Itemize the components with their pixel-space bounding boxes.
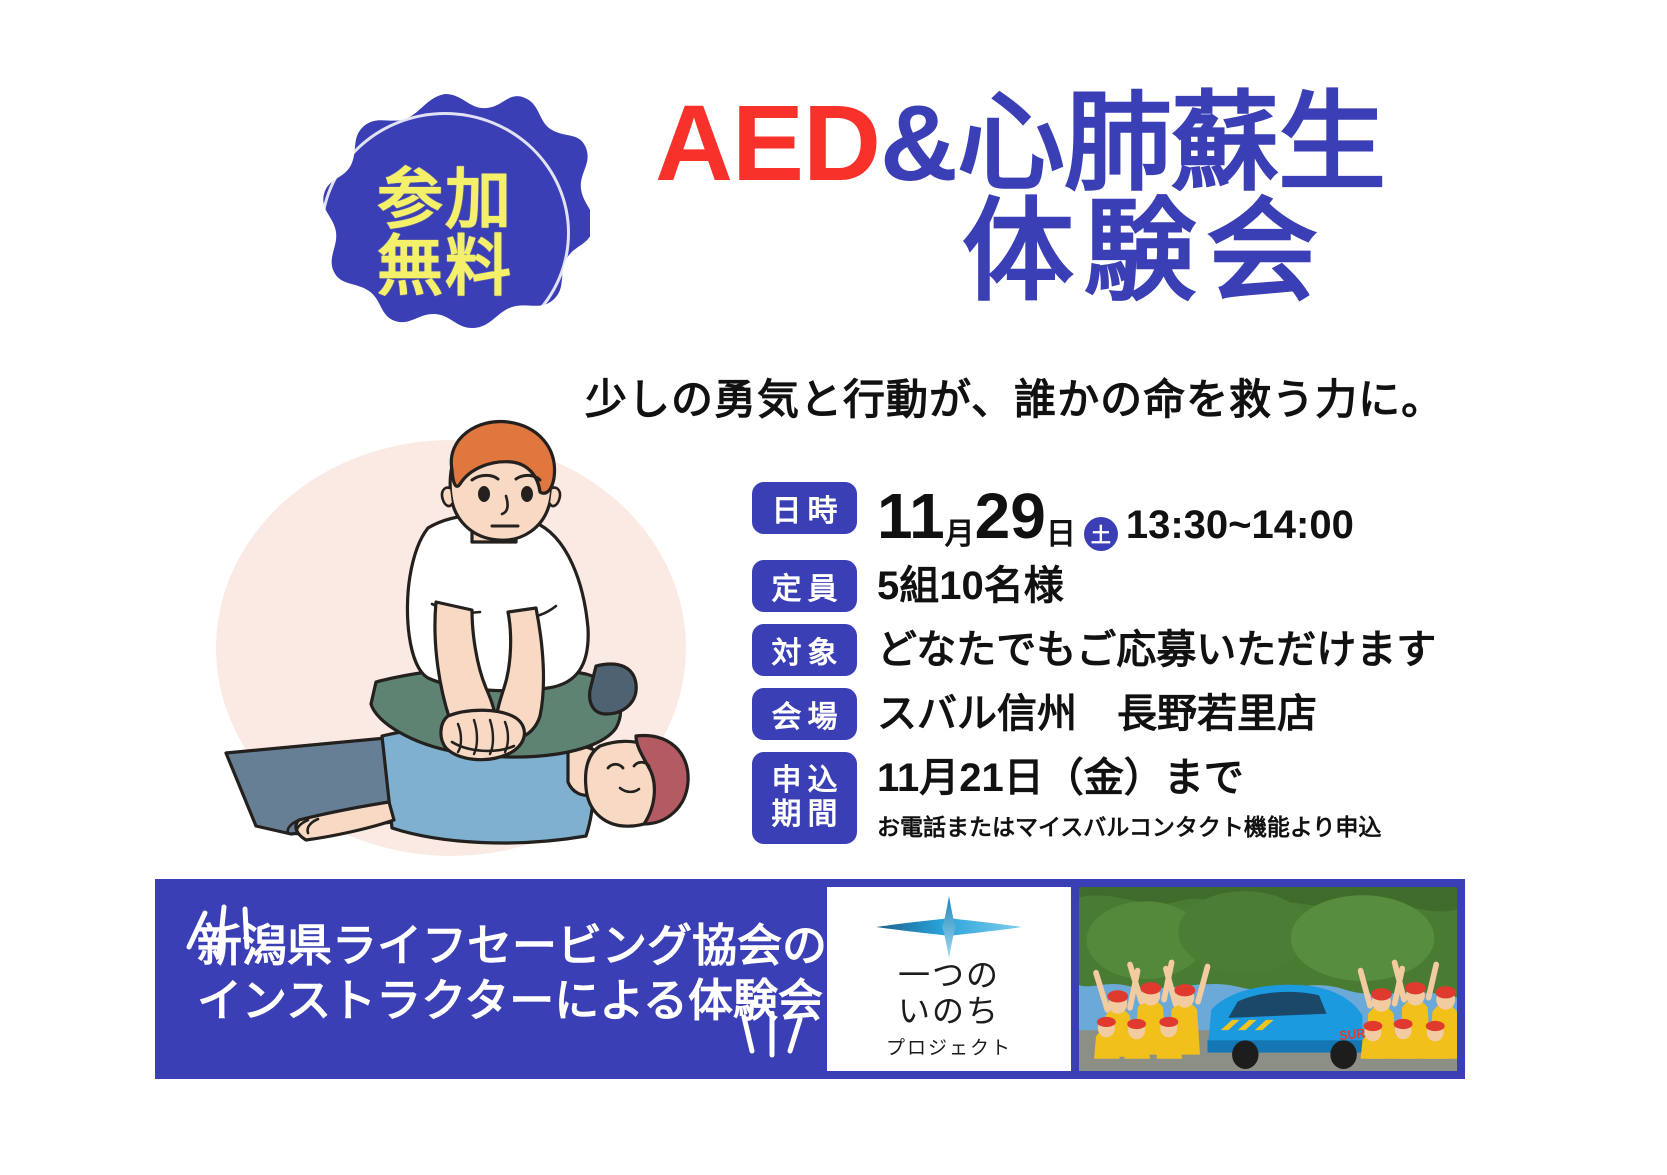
- banner-line-1: 新潟県ライフセービング協会の: [197, 919, 827, 974]
- info-label-capacity: 定員: [752, 560, 857, 612]
- date-time-range: 13:30~14:00: [1126, 503, 1354, 548]
- logo-line-1: 一つの: [898, 958, 1000, 994]
- date-month: 11: [877, 484, 945, 548]
- info-label-application-line2: 期間: [772, 798, 844, 833]
- title-rest: &心肺蘇生: [880, 82, 1385, 203]
- sparkle-icon-left: [179, 885, 269, 965]
- sparkle-icon-right: [730, 1011, 810, 1077]
- title-line-2: 体験会: [655, 194, 1615, 310]
- info-value-target: どなたでもご応募いただけます: [877, 624, 1436, 674]
- info-value-capacity: 5組10名様: [877, 560, 1064, 610]
- info-label-application: 申込 期間: [752, 752, 857, 844]
- info-row-target: 対象 どなたでもご応募いただけます: [752, 624, 1452, 676]
- poster-root: 参加 無料 AED&心肺蘇生 体験会 少しの勇気と行動が、誰かの命を救う力に。: [0, 0, 1667, 1175]
- cpr-illustration-svg: [196, 416, 716, 866]
- hitotsu-no-inochi-logo: 一つの いのち プロジェクト: [827, 887, 1071, 1071]
- info-label-application-line1: 申込: [772, 764, 844, 799]
- title-aed: AED: [655, 82, 880, 203]
- badge-line-2: 無料: [377, 233, 513, 300]
- info-label-target: 対象: [752, 624, 857, 676]
- application-deadline: 11月21日（金）まで: [877, 754, 1381, 802]
- application-note: お電話またはマイスバルコンタクト機能より申込: [877, 808, 1381, 842]
- cpr-illustration: [196, 416, 716, 866]
- date-month-unit: 月: [945, 509, 975, 553]
- logo-line-2: いのち: [898, 994, 1000, 1030]
- info-label-datetime: 日時: [752, 482, 857, 534]
- four-point-star-icon: [874, 896, 1024, 958]
- bottom-banner: 新潟県ライフセービング協会の インストラクターによる体験会: [155, 879, 1465, 1079]
- poster-tagline: 少しの勇気と行動が、誰かの命を救う力に。: [585, 366, 1485, 427]
- logo-line-3: プロジェクト: [886, 1033, 1012, 1060]
- info-value-venue: スバル信州 長野若里店: [877, 688, 1317, 738]
- date-day: 29: [975, 484, 1046, 548]
- event-info-table: 日時 11 月 29 日 土 13:30~14:00 定員 5組10名様 対象 …: [752, 482, 1452, 856]
- info-value-application: 11月21日（金）まで お電話またはマイスバルコンタクト機能より申込: [877, 752, 1381, 842]
- lifesavers-photo-svg: SURF: [1079, 887, 1457, 1071]
- info-row-venue: 会場 スバル信州 長野若里店: [752, 688, 1452, 740]
- lifesavers-photo: SURF: [1079, 887, 1457, 1071]
- info-value-datetime: 11 月 29 日 土 13:30~14:00: [877, 482, 1354, 548]
- title-line-1: AED&心肺蘇生: [655, 88, 1615, 198]
- info-row-application: 申込 期間 11月21日（金）まで お電話またはマイスバルコンタクト機能より申込: [752, 752, 1452, 844]
- info-row-datetime: 日時 11 月 29 日 土 13:30~14:00: [752, 482, 1452, 548]
- date-day-unit: 日: [1046, 509, 1076, 553]
- poster-title: AED&心肺蘇生 体験会: [655, 88, 1615, 311]
- date-weekday-badge: 土: [1084, 517, 1118, 551]
- badge-line-1: 参加: [377, 166, 513, 233]
- info-row-capacity: 定員 5組10名様: [752, 560, 1452, 612]
- info-label-venue: 会場: [752, 688, 857, 740]
- banner-text: 新潟県ライフセービング協会の インストラクターによる体験会: [155, 879, 827, 1079]
- free-participation-badge: 参加 無料: [300, 92, 590, 374]
- badge-text: 参加 無料: [300, 92, 590, 374]
